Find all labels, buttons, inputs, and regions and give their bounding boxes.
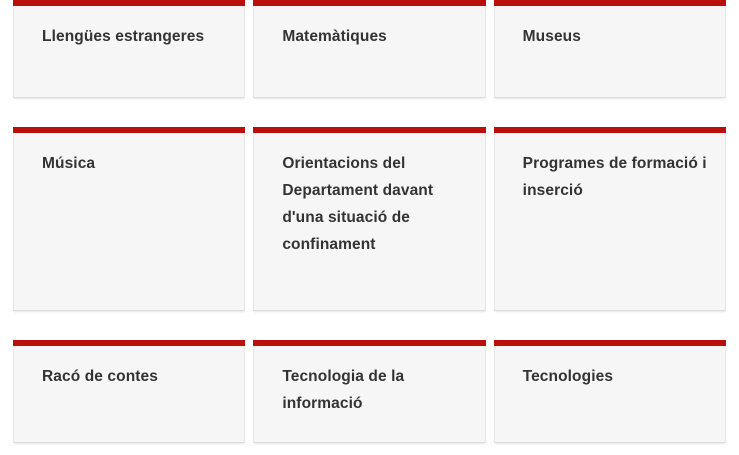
card-accent-bar <box>13 127 245 133</box>
card-matematiques[interactable]: Matemàtiques <box>253 0 485 98</box>
card-museus[interactable]: Museus <box>494 0 726 98</box>
card-title: Orientacions del Departament davant d'un… <box>282 150 466 258</box>
card-title: Tecnologia de la informació <box>282 363 466 417</box>
card-llengues-estrangeres[interactable]: Llengües estrangeres <box>13 0 245 98</box>
card-title: Tecnologies <box>523 363 707 390</box>
card-title: Matemàtiques <box>282 23 466 50</box>
card-accent-bar <box>13 340 245 346</box>
card-accent-bar <box>494 340 726 346</box>
card-programes-formacio-insercio[interactable]: Programes de formació i inserció <box>494 127 726 311</box>
card-title: Museus <box>523 23 707 50</box>
card-accent-bar <box>253 0 485 6</box>
card-row: Llengües estrangeres Matemàtiques Museus <box>13 0 726 98</box>
card-accent-bar <box>253 127 485 133</box>
card-orientacions-departament[interactable]: Orientacions del Departament davant d'un… <box>253 127 485 311</box>
card-musica[interactable]: Música <box>13 127 245 311</box>
card-title: Programes de formació i inserció <box>523 150 707 204</box>
card-accent-bar <box>494 127 726 133</box>
card-tecnologia-de-la-informacio[interactable]: Tecnologia de la informació <box>253 340 485 443</box>
card-title: Racó de contes <box>42 363 226 390</box>
card-raco-de-contes[interactable]: Racó de contes <box>13 340 245 443</box>
card-title: Música <box>42 150 226 177</box>
card-accent-bar <box>494 0 726 6</box>
card-row: Música Orientacions del Departament dava… <box>13 127 726 311</box>
card-accent-bar <box>13 0 245 6</box>
card-title: Llengües estrangeres <box>42 23 226 50</box>
card-accent-bar <box>253 340 485 346</box>
card-grid: Llengües estrangeres Matemàtiques Museus… <box>0 0 739 443</box>
card-row: Racó de contes Tecnologia de la informac… <box>13 340 726 443</box>
card-tecnologies[interactable]: Tecnologies <box>494 340 726 443</box>
